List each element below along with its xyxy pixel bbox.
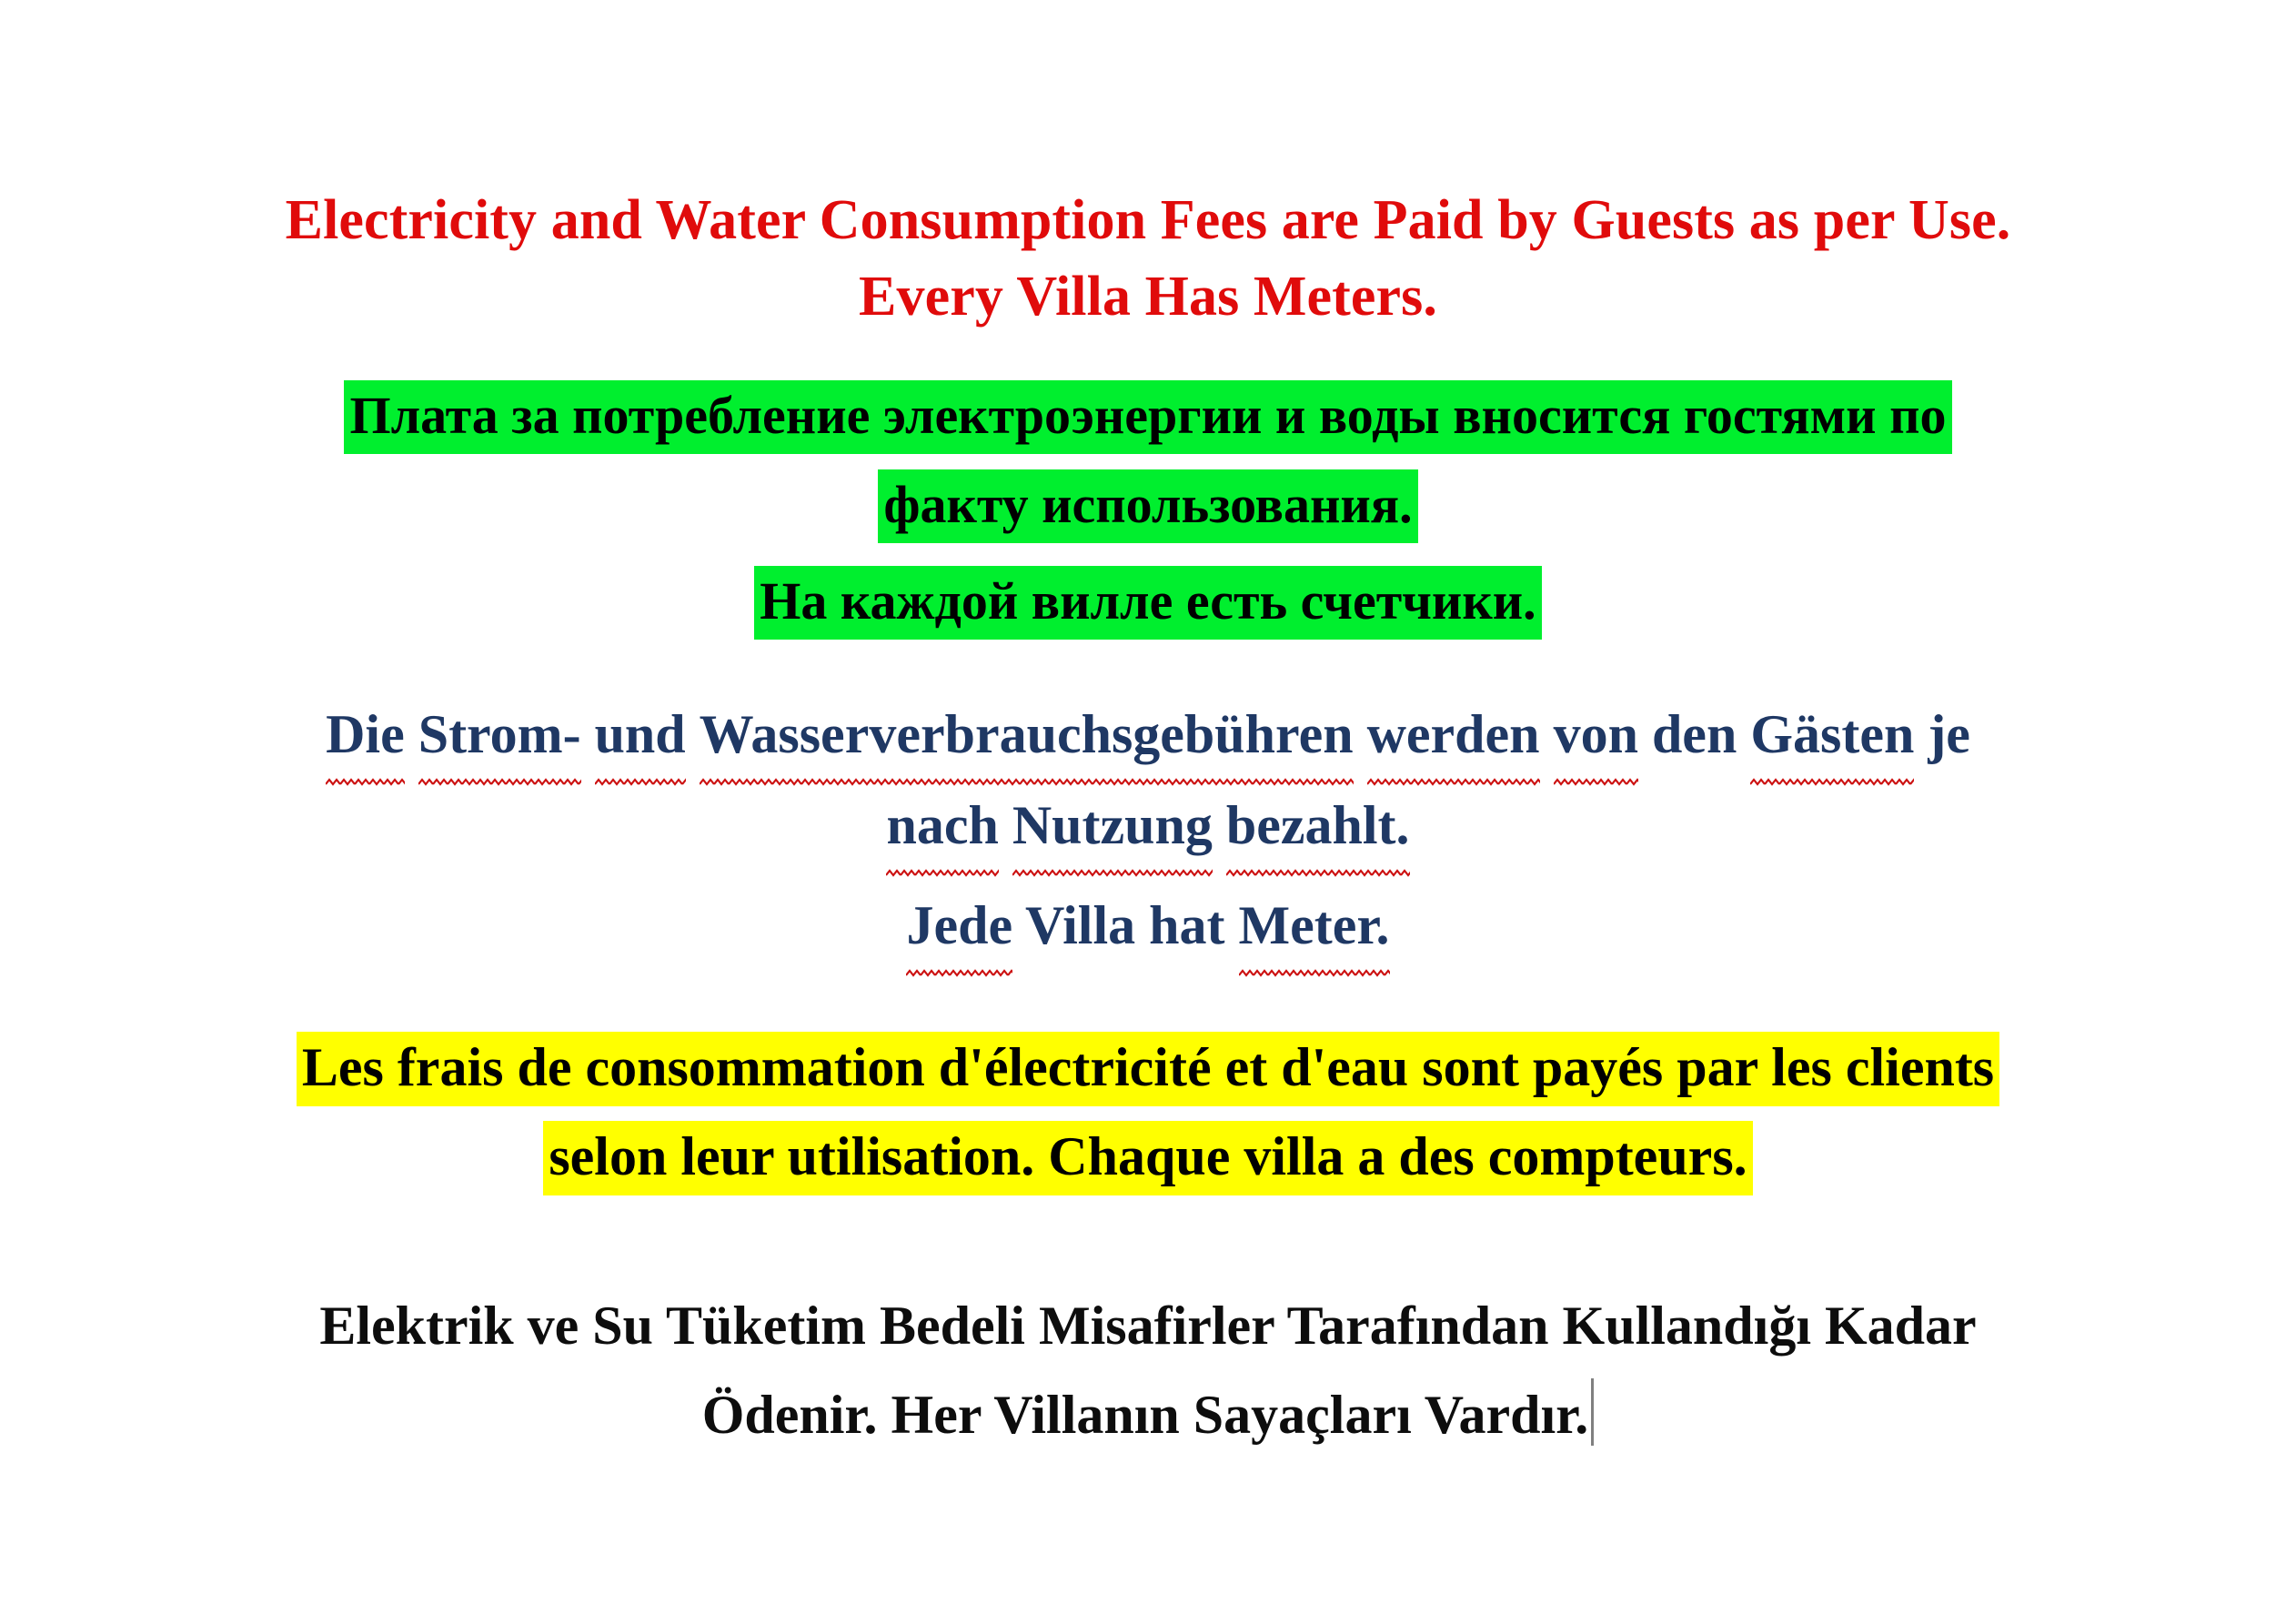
german-line-2: nach Nutzung bezahlt. <box>0 781 2296 872</box>
german-line-3: Jede Villa hat Meter. <box>0 881 2296 972</box>
word: Meter. <box>1239 881 1390 972</box>
word: Nutzung <box>1012 781 1213 872</box>
russian-line-2: факту использования. <box>0 460 2296 550</box>
russian-line-1: Плата за потребление электроэнергии и во… <box>0 371 2296 460</box>
document-body[interactable]: Electricity and Water Consumption Fees a… <box>0 0 2296 1459</box>
german-notice-block: Die Strom- und Wasserverbrauchsgebühren … <box>0 690 2296 972</box>
turkish-line-1: Elektrik ve Su Tüketim Bedeli Misafirler… <box>0 1281 2296 1370</box>
word: Strom- <box>418 690 581 781</box>
word: Die <box>326 690 405 781</box>
russian-line-1-text: Плата за потребление электроэнергии и во… <box>344 380 1951 454</box>
word: von <box>1554 690 1638 781</box>
russian-line-3-text: На каждой вилле есть счетчики. <box>754 566 1541 640</box>
word: und <box>595 690 686 781</box>
word: Villa <box>1025 895 1135 955</box>
word: je <box>1928 704 1970 764</box>
word: Gästen <box>1750 690 1914 781</box>
russian-line-2-text: факту использования. <box>878 469 1417 543</box>
french-line-1: Les frais de consommation d'électricité … <box>0 1023 2296 1112</box>
turkish-line-2-text: Ödenir. Her Villanın Sayaçları Vardır. <box>702 1385 1589 1445</box>
french-line-2-text: selon leur utilisation. Chaque villa a d… <box>543 1121 1752 1195</box>
word: den <box>1652 704 1737 764</box>
english-line-1: Electricity and Water Consumption Fees a… <box>0 182 2296 258</box>
english-notice-block: Electricity and Water Consumption Fees a… <box>0 182 2296 335</box>
word: nach <box>886 781 998 872</box>
word: bezahlt. <box>1226 781 1410 872</box>
french-line-2: selon leur utilisation. Chaque villa a d… <box>0 1112 2296 1201</box>
word: hat <box>1149 895 1224 955</box>
turkish-notice-block: Elektrik ve Su Tüketim Bedeli Misafirler… <box>0 1281 2296 1459</box>
word: Jede <box>906 881 1012 972</box>
text-caret <box>1591 1378 1594 1446</box>
english-line-2: Every Villa Has Meters. <box>0 258 2296 335</box>
turkish-line-2: Ödenir. Her Villanın Sayaçları Vardır. <box>0 1370 2296 1459</box>
document-page: Electricity and Water Consumption Fees a… <box>0 0 2296 1624</box>
german-line-1: Die Strom- und Wasserverbrauchsgebühren … <box>0 690 2296 781</box>
russian-line-3: На каждой вилле есть счетчики. <box>0 557 2296 646</box>
french-notice-block: Les frais de consommation d'électricité … <box>0 1023 2296 1201</box>
french-line-1-text: Les frais de consommation d'électricité … <box>297 1032 1999 1106</box>
word: Wasserverbrauchsgebühren <box>700 690 1354 781</box>
russian-notice-block: Плата за потребление электроэнергии и во… <box>0 371 2296 646</box>
word: werden <box>1367 690 1540 781</box>
